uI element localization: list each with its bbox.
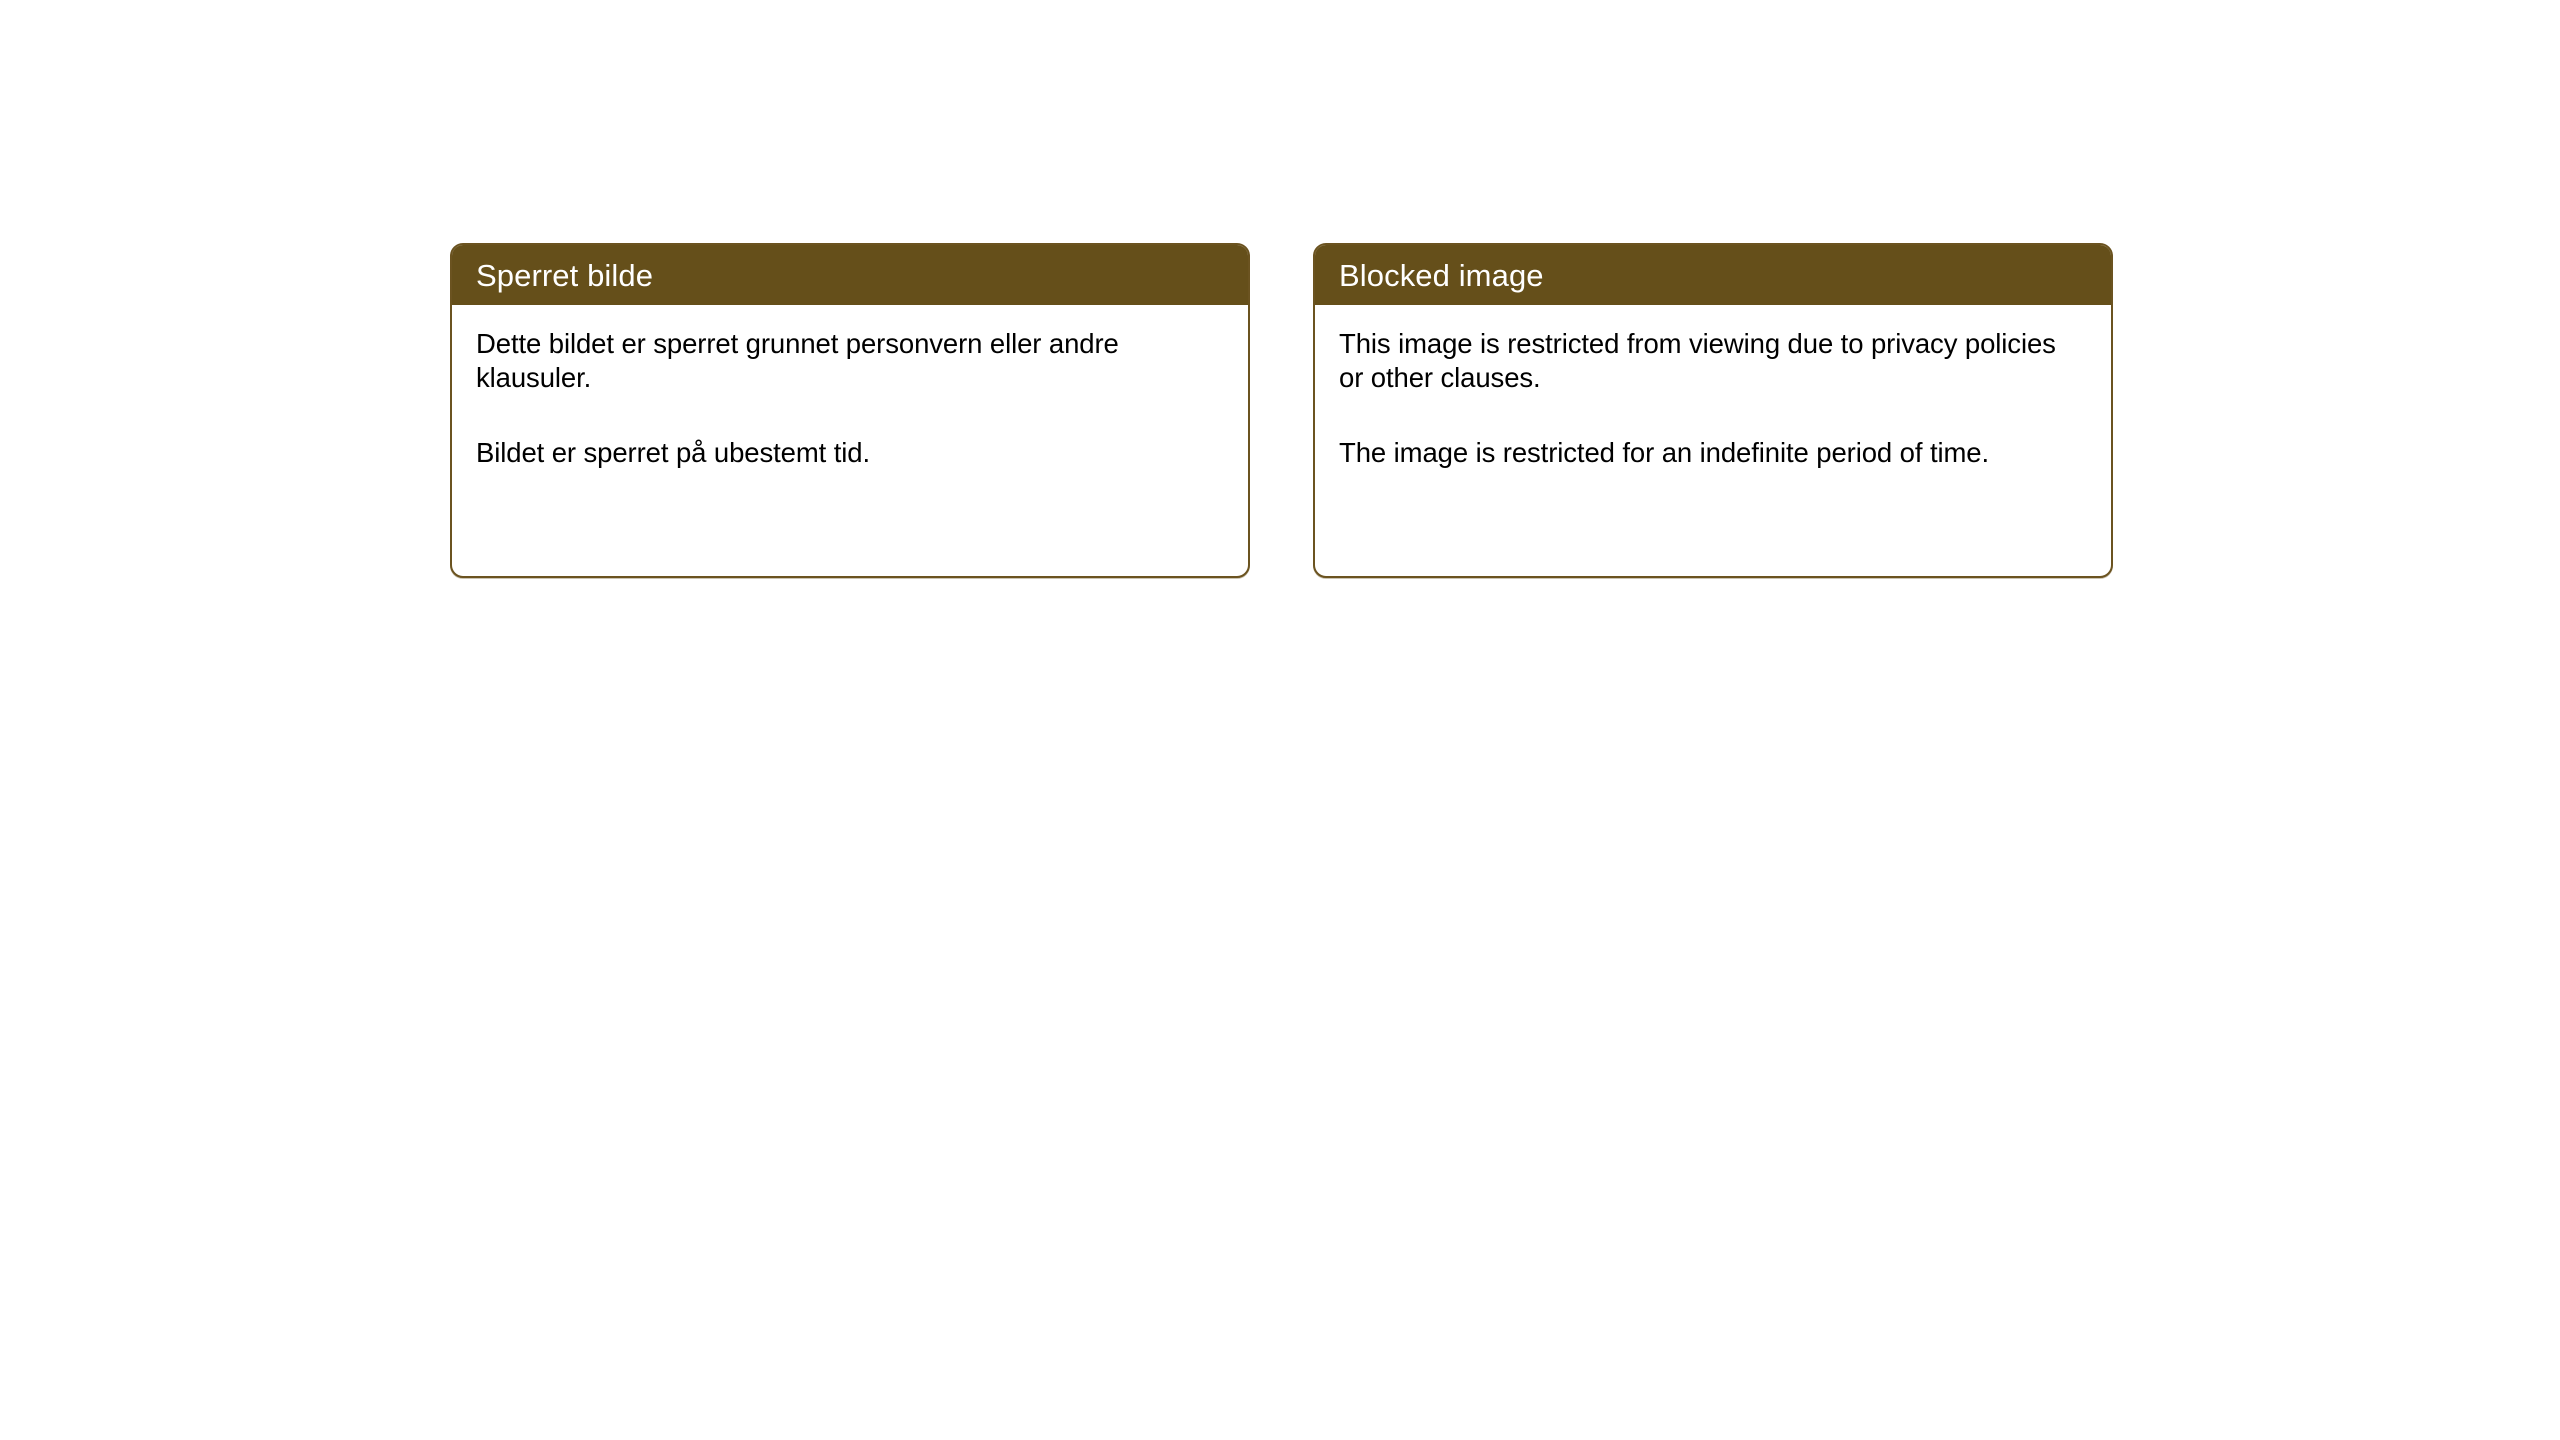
notice-header-norwegian: Sperret bilde xyxy=(452,245,1248,305)
blocked-image-notice-english: Blocked image This image is restricted f… xyxy=(1313,243,2113,578)
notice-paragraph-duration-norwegian: Bildet er sperret på ubestemt tid. xyxy=(476,436,1224,470)
notice-body-norwegian: Dette bildet er sperret grunnet personve… xyxy=(452,305,1248,470)
notice-title-english: Blocked image xyxy=(1339,260,1544,291)
notice-header-english: Blocked image xyxy=(1315,245,2111,305)
notice-body-english: This image is restricted from viewing du… xyxy=(1315,305,2111,470)
blocked-image-notice-norwegian: Sperret bilde Dette bildet er sperret gr… xyxy=(450,243,1250,578)
notice-paragraph-reason-norwegian: Dette bildet er sperret grunnet personve… xyxy=(476,327,1224,394)
notice-title-norwegian: Sperret bilde xyxy=(476,260,653,291)
notice-paragraph-reason-english: This image is restricted from viewing du… xyxy=(1339,327,2087,394)
notice-paragraph-duration-english: The image is restricted for an indefinit… xyxy=(1339,436,2087,470)
page-canvas: Sperret bilde Dette bildet er sperret gr… xyxy=(0,0,2560,1440)
